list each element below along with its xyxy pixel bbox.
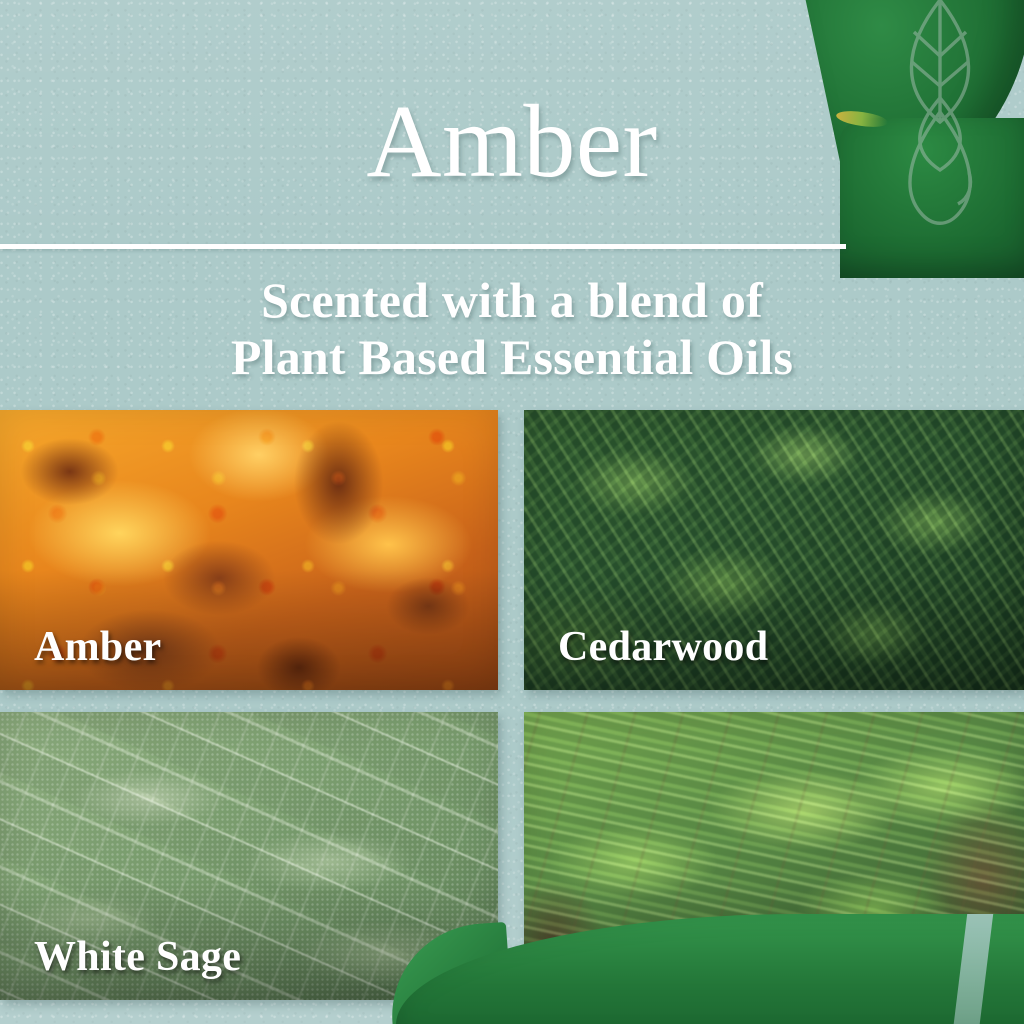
title-divider-rule xyxy=(0,244,846,249)
subtitle-line-2: Plant Based Essential Oils xyxy=(0,329,1024,386)
ingredient-tile-cypress[interactable]: Cypress xyxy=(524,712,1024,1000)
ingredient-tile-cedarwood[interactable]: Cedarwood xyxy=(524,410,1024,690)
ingredient-label-amber: Amber xyxy=(34,626,161,668)
ingredient-tile-amber[interactable]: Amber xyxy=(0,410,498,690)
ingredient-label-cypress: Cypress xyxy=(558,936,704,978)
product-scent-poster: Amber Scented with a blend of Plant Base… xyxy=(0,0,1024,1024)
page-title: Amber xyxy=(0,90,1024,194)
subtitle-line-1: Scented with a blend of xyxy=(0,272,1024,329)
ingredient-label-white-sage: White Sage xyxy=(34,936,241,978)
ingredient-tile-white-sage[interactable]: White Sage xyxy=(0,712,498,1000)
subtitle: Scented with a blend of Plant Based Esse… xyxy=(0,272,1024,386)
ingredient-label-cedarwood: Cedarwood xyxy=(558,626,768,668)
